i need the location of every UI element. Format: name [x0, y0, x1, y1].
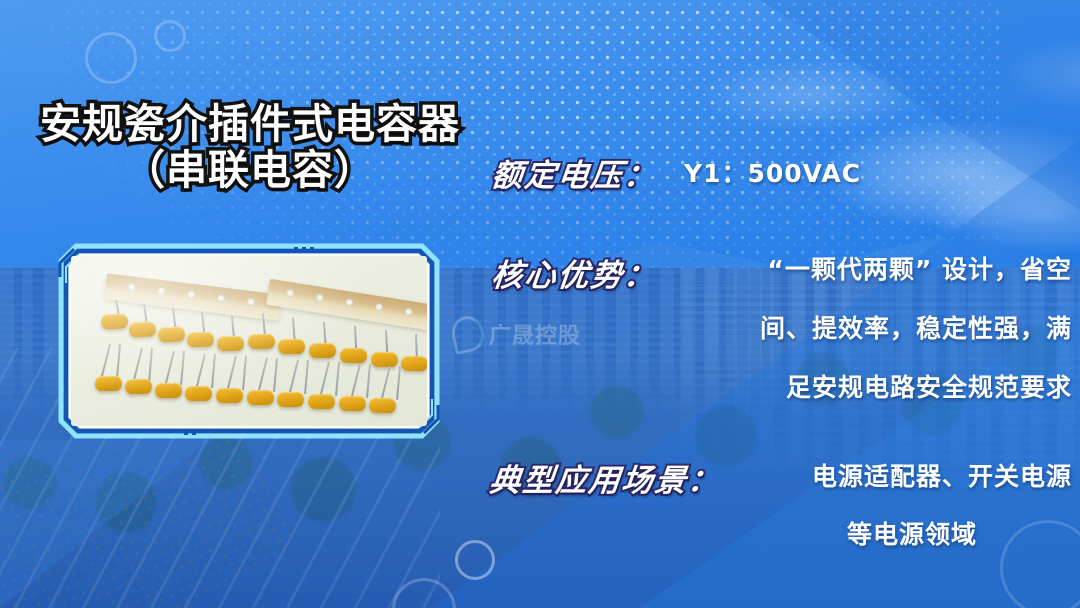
- capacitor-unit: [369, 398, 396, 413]
- spec-value-rated-voltage: Y1：500VAC: [684, 154, 861, 190]
- capacitor-unit: [401, 356, 427, 371]
- capacitor-unit: [101, 313, 129, 329]
- capacitor-unit: [158, 327, 186, 343]
- page-title: 安规瓷介插件式电容器 （串联电容）: [40, 102, 460, 194]
- applications-line: 等电源领域: [752, 515, 1072, 551]
- product-image-frame: [58, 243, 440, 439]
- promo-slide: 广晟控股 安规瓷介插件式电容器 （串联电容）: [0, 0, 1080, 608]
- capacitor-unit: [129, 322, 157, 338]
- spec-label-rated-voltage: 额定电压：: [490, 150, 660, 195]
- capacitor-unit: [187, 332, 214, 347]
- spec-label-core-advantage: 核心优势：: [490, 250, 660, 295]
- capacitor-unit: [95, 376, 122, 391]
- capacitor-unit: [217, 336, 244, 351]
- spec-value-core-advantage: “一颗代两颗” 设计，省空 间、提效率，稳定性强，满 足安规电路安全规范要求: [692, 250, 1072, 404]
- applications-line: 电源适配器、开关电源: [752, 457, 1072, 493]
- capacitor-unit: [185, 386, 212, 401]
- capacitor-unit: [340, 348, 367, 363]
- capacitor-unit: [339, 396, 366, 411]
- capacitor-unit: [309, 343, 336, 358]
- capacitor-unit: [155, 383, 182, 398]
- capacitor-unit: [308, 394, 335, 409]
- title-line-secondary: （串联电容）: [40, 148, 460, 194]
- capacitor-unit: [371, 352, 398, 367]
- title-line-primary: 安规瓷介插件式电容器: [40, 102, 460, 148]
- core-advantage-line: “一颗代两颗” 设计，省空: [692, 250, 1072, 286]
- core-advantage-line: 间、提效率，稳定性强，满: [692, 309, 1072, 345]
- capacitor-unit: [278, 339, 305, 354]
- capacitor-unit: [248, 334, 275, 349]
- capacitor-unit: [247, 390, 274, 405]
- spec-value-applications: 电源适配器、开关电源 等电源领域: [752, 457, 1072, 551]
- product-photo: [71, 256, 427, 426]
- spec-label-applications: 典型应用场景：: [488, 455, 724, 500]
- capacitor-unit: [277, 392, 304, 407]
- core-advantage-line: 足安规电路安全规范要求: [692, 368, 1072, 404]
- capacitor-unit: [125, 379, 152, 394]
- capacitor-unit: [216, 388, 243, 403]
